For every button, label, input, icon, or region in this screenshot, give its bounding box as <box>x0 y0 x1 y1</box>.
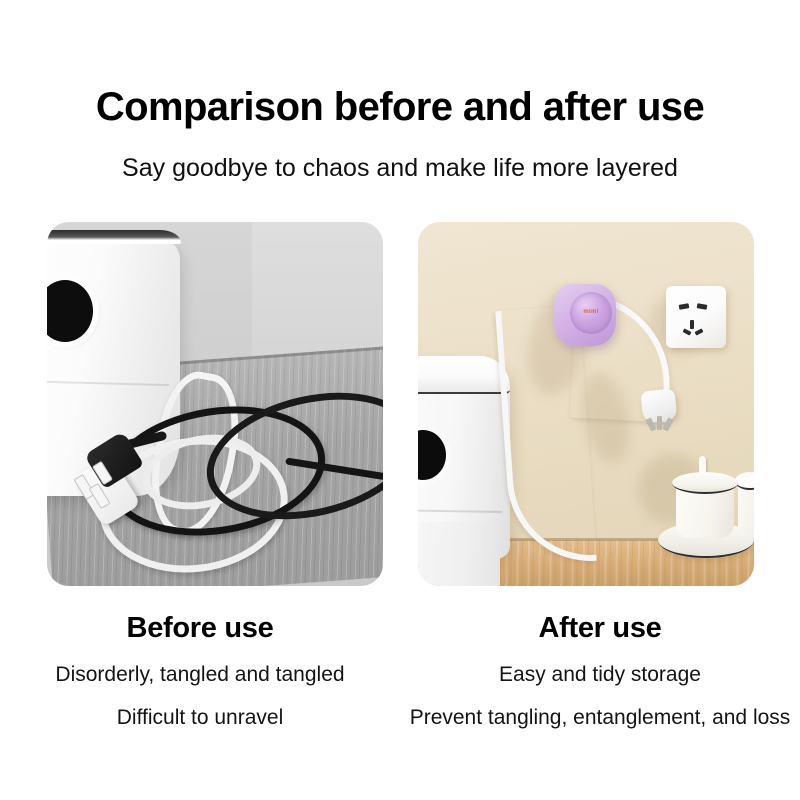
air-fryer-rim <box>47 230 181 244</box>
after-caption-title: After use <box>400 612 800 645</box>
before-caption-line-2: Difficult to unravel <box>0 705 400 730</box>
page-title: Comparison before and after use <box>0 85 800 129</box>
after-caption: After use Easy and tidy storage Prevent … <box>400 612 800 730</box>
before-photo-card <box>47 222 383 586</box>
wall-socket-slot-earth <box>690 320 694 329</box>
page-subtitle: Say goodbye to chaos and make life more … <box>0 153 800 183</box>
before-photo <box>47 222 383 586</box>
promo-page: Comparison before and after use Say good… <box>0 0 800 800</box>
after-caption-line-1: Easy and tidy storage <box>400 662 800 687</box>
before-caption: Before use Disorderly, tangled and tangl… <box>0 612 400 730</box>
air-fryer-lid <box>418 356 510 394</box>
before-caption-line-1: Disorderly, tangled and tangled <box>0 662 400 687</box>
after-photo-card: mimi <box>418 222 754 586</box>
cable-organizer-logo: mimi <box>577 308 605 316</box>
before-caption-title: Before use <box>0 612 400 645</box>
after-caption-line-2: Prevent tangling, entanglement, and loss <box>400 705 800 730</box>
air-fryer-base <box>418 522 500 586</box>
ceramic-jar-lid <box>672 472 738 494</box>
wall-socket <box>666 286 726 348</box>
after-photo: mimi <box>418 222 754 586</box>
plug-pin-earth <box>657 416 662 430</box>
